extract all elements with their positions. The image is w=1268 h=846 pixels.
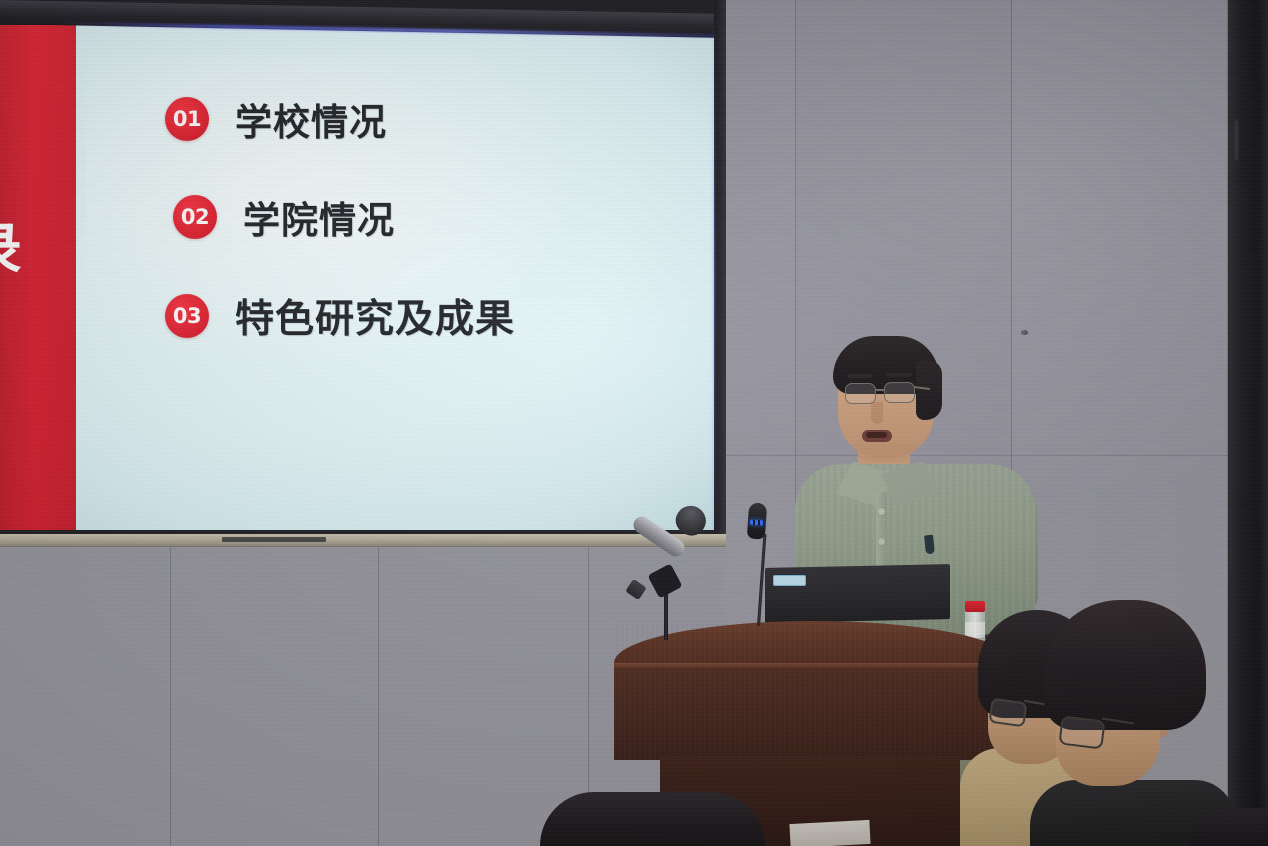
projection-screen[interactable]: 录 01 学校情况 02 学院情况 03 特色研究及成果 bbox=[0, 0, 726, 537]
wall-seam bbox=[726, 455, 1228, 456]
slide-agenda-list: 01 学校情况 02 学院情况 03 特色研究及成果 bbox=[165, 92, 685, 388]
column-highlight bbox=[1235, 120, 1238, 160]
presenter-mouth-inner bbox=[866, 432, 887, 438]
screen-edge-glow-right bbox=[713, 30, 715, 530]
presenter-nose bbox=[871, 402, 883, 424]
slide-red-sidebar: 录 bbox=[0, 25, 76, 530]
laptop-sticker bbox=[773, 575, 806, 586]
agenda-number-badge: 02 bbox=[173, 195, 217, 239]
trim-vent-slot bbox=[222, 537, 326, 542]
wall-seam bbox=[170, 547, 171, 846]
attendee-glasses bbox=[988, 698, 1027, 728]
bottle-cap bbox=[965, 601, 985, 612]
sidebar-title-partial: 录 bbox=[0, 223, 46, 279]
agenda-item-label: 特色研究及成果 bbox=[235, 288, 515, 344]
wall-fixture-screw bbox=[1021, 330, 1028, 335]
wall-column bbox=[1228, 0, 1268, 846]
attendee-glasses bbox=[1058, 715, 1105, 749]
agenda-item: 02 学院情况 bbox=[173, 190, 685, 244]
presenter-hair-side bbox=[916, 360, 942, 420]
agenda-number-badge: 01 bbox=[165, 97, 209, 141]
attendee-hair bbox=[1044, 600, 1206, 730]
presenter-chin-shadow bbox=[852, 443, 916, 461]
screen-bezel-right bbox=[714, 0, 726, 537]
agenda-item-label: 学院情况 bbox=[243, 190, 395, 244]
podium-wood-grain bbox=[614, 668, 1014, 760]
agenda-item-label: 学校情况 bbox=[235, 92, 387, 146]
microphone-led-indicator bbox=[750, 520, 764, 526]
agenda-item: 03 特色研究及成果 bbox=[165, 288, 685, 344]
presenter-eyebrow-right bbox=[886, 373, 912, 377]
agenda-item: 01 学校情况 bbox=[165, 92, 685, 146]
presenter-glasses-lens-left bbox=[845, 383, 876, 404]
shirt-button bbox=[878, 508, 885, 515]
podium-body bbox=[614, 668, 1014, 760]
agenda-number-badge: 03 bbox=[165, 294, 209, 338]
presenter-mouth bbox=[862, 430, 892, 442]
paper-on-desk[interactable] bbox=[789, 820, 870, 846]
presenter-glasses-bridge bbox=[876, 389, 884, 391]
attendee-head-front-center bbox=[540, 792, 765, 846]
presentation-scene: 录 01 学校情况 02 学院情况 03 特色研究及成果 bbox=[0, 0, 1268, 846]
shirt-chest-logo bbox=[924, 535, 935, 555]
wall-seam bbox=[378, 547, 379, 846]
presenter-eyebrow-left bbox=[847, 374, 873, 378]
wall-trim-bar bbox=[0, 534, 726, 547]
shirt-button bbox=[878, 538, 885, 545]
presenter-glasses-lens-right bbox=[884, 382, 915, 403]
